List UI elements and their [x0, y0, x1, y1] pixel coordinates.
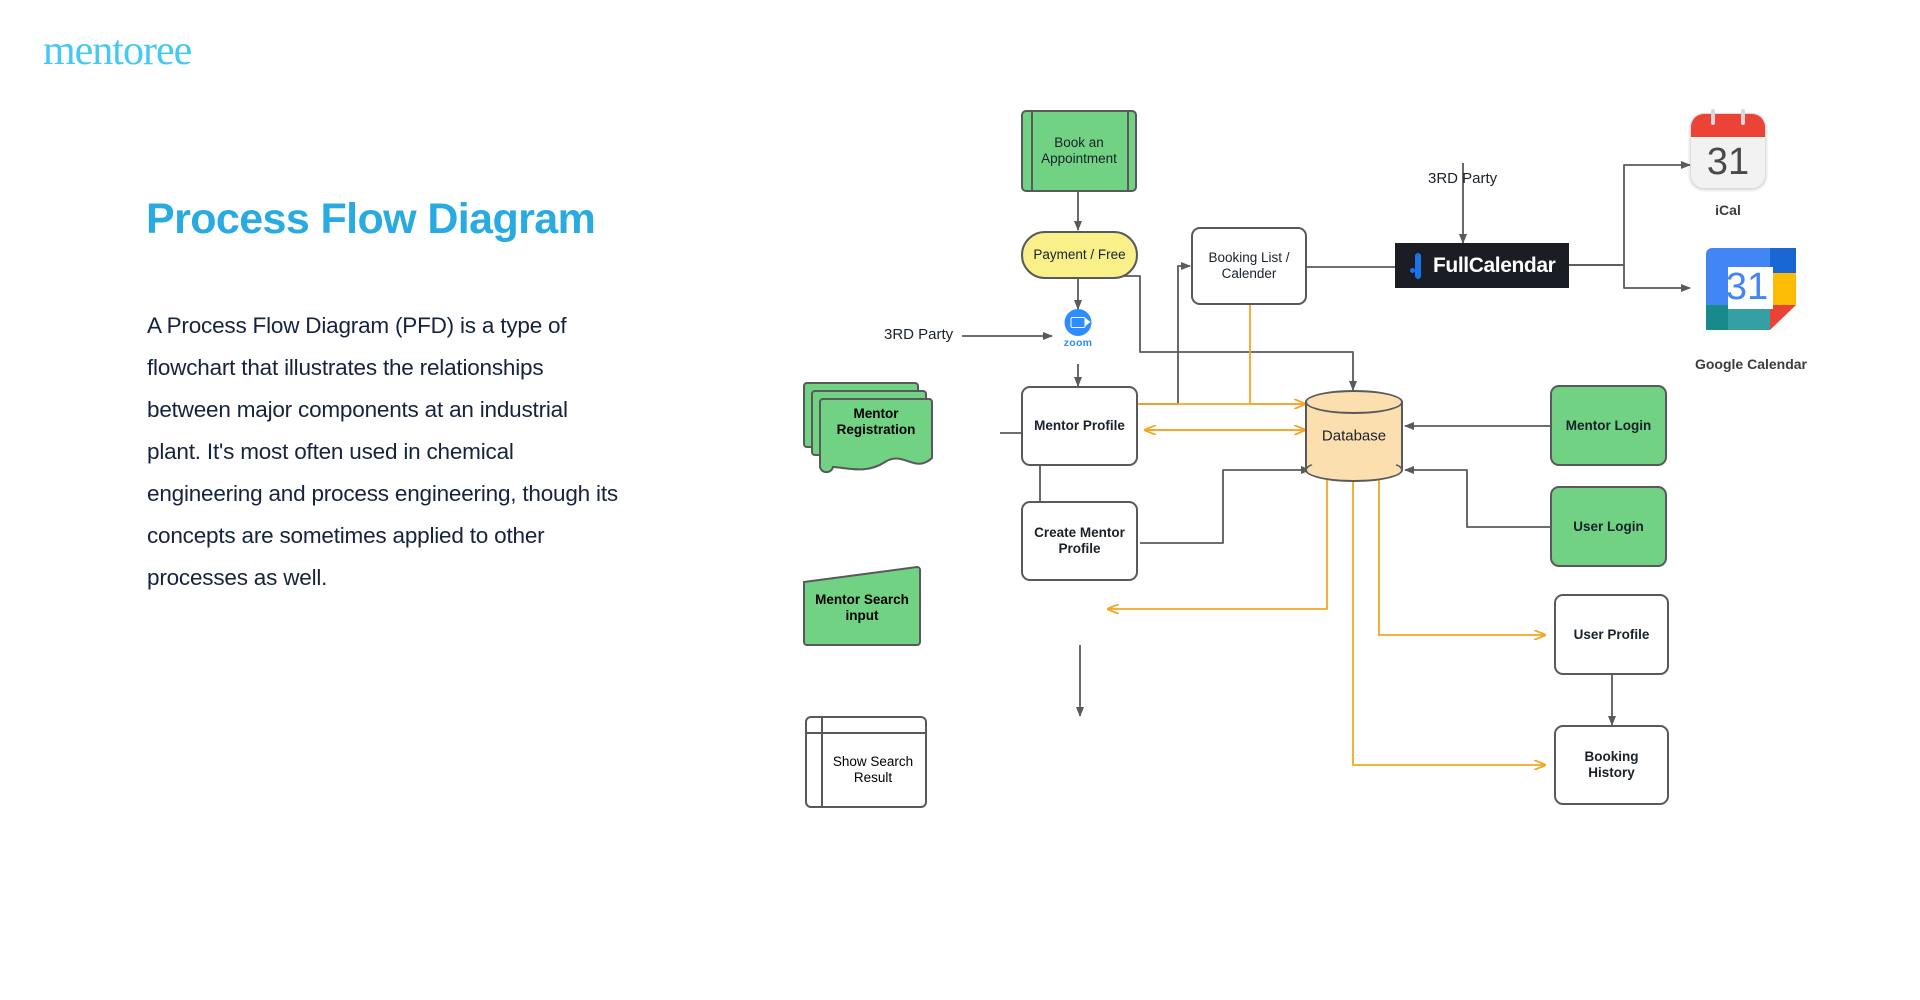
node-booking-history[interactable]: Booking History [1554, 725, 1669, 805]
node-booking-list[interactable]: Booking List / Calender [1191, 227, 1307, 305]
node-create-mentor-profile[interactable]: Create Mentor Profile [1021, 501, 1138, 581]
create-mentor-profile-label: Create Mentor Profile [1023, 525, 1136, 557]
edge-label-third-party-fullcalendar: 3RD Party [1428, 170, 1497, 187]
ical-caption: iCal [1690, 202, 1766, 218]
slide-canvas: mentoree Process Flow Diagram A Process … [0, 0, 1920, 1000]
database-bottom-cap [1305, 458, 1403, 482]
user-login-label: User Login [1567, 519, 1650, 535]
fullcalendar-logo-icon [1415, 253, 1421, 279]
node-mentor-profile[interactable]: Mentor Profile [1021, 386, 1138, 466]
node-zoom-integration[interactable]: zoom [1064, 309, 1092, 359]
ical-ring-right [1741, 109, 1745, 125]
gcal-day-number: 31 [1716, 244, 1778, 330]
node-user-login[interactable]: User Login [1550, 486, 1667, 567]
booking-list-label: Booking List / Calender [1193, 250, 1305, 282]
node-book-appointment[interactable]: Book an Appointment [1021, 110, 1137, 192]
node-mentor-registration[interactable]: Mentor Registration [803, 382, 933, 474]
node-payment-free[interactable]: Payment / Free [1021, 231, 1138, 279]
mentor-registration-label: Mentor Registration [819, 406, 933, 438]
video-camera-icon [1071, 317, 1086, 328]
mentor-search-input-label: Mentor Search input [803, 592, 921, 624]
mentor-profile-label: Mentor Profile [1028, 418, 1131, 434]
ical-ring-left [1711, 109, 1715, 125]
show-search-result-text: Show Search Result [833, 754, 913, 785]
mentor-search-input-text: Mentor Search input [815, 592, 909, 623]
zoom-icon [1065, 309, 1092, 336]
node-fullcalendar[interactable]: FullCalendar [1395, 243, 1569, 288]
node-google-calendar-icon[interactable]: 31 [1706, 248, 1796, 330]
show-search-result-label: Show Search Result [821, 754, 925, 786]
node-mentor-login[interactable]: Mentor Login [1550, 385, 1667, 466]
table-header-divider [807, 732, 925, 734]
database-top-cap [1305, 390, 1403, 414]
mentor-registration-text: Mentor Registration [837, 406, 916, 437]
ical-header-band [1691, 114, 1765, 137]
edge-label-third-party-zoom: 3RD Party [884, 326, 953, 343]
node-show-search-result[interactable]: Show Search Result [805, 716, 927, 808]
booking-history-label: Booking History [1556, 749, 1667, 781]
payment-free-label: Payment / Free [1027, 247, 1131, 263]
process-flow-diagram: Book an Appointment Payment / Free zoom … [0, 0, 1920, 1000]
node-database[interactable]: Database [1305, 390, 1403, 482]
ical-box: 31 [1690, 113, 1766, 189]
node-label: Book an Appointment [1021, 110, 1137, 192]
fullcalendar-label: FullCalendar [1433, 254, 1555, 278]
user-profile-label: User Profile [1568, 627, 1656, 643]
google-calendar-caption: Google Calendar [1666, 356, 1836, 372]
zoom-label: zoom [1064, 337, 1093, 349]
node-ical-icon[interactable]: 31 [1690, 113, 1766, 189]
ical-day-number: 31 [1691, 136, 1765, 188]
node-user-profile[interactable]: User Profile [1554, 594, 1669, 675]
node-mentor-search-input[interactable]: Mentor Search input [803, 566, 921, 646]
database-label: Database [1305, 428, 1403, 445]
mentor-login-label: Mentor Login [1560, 418, 1657, 434]
book-appointment-label: Book an Appointment [1021, 135, 1137, 167]
